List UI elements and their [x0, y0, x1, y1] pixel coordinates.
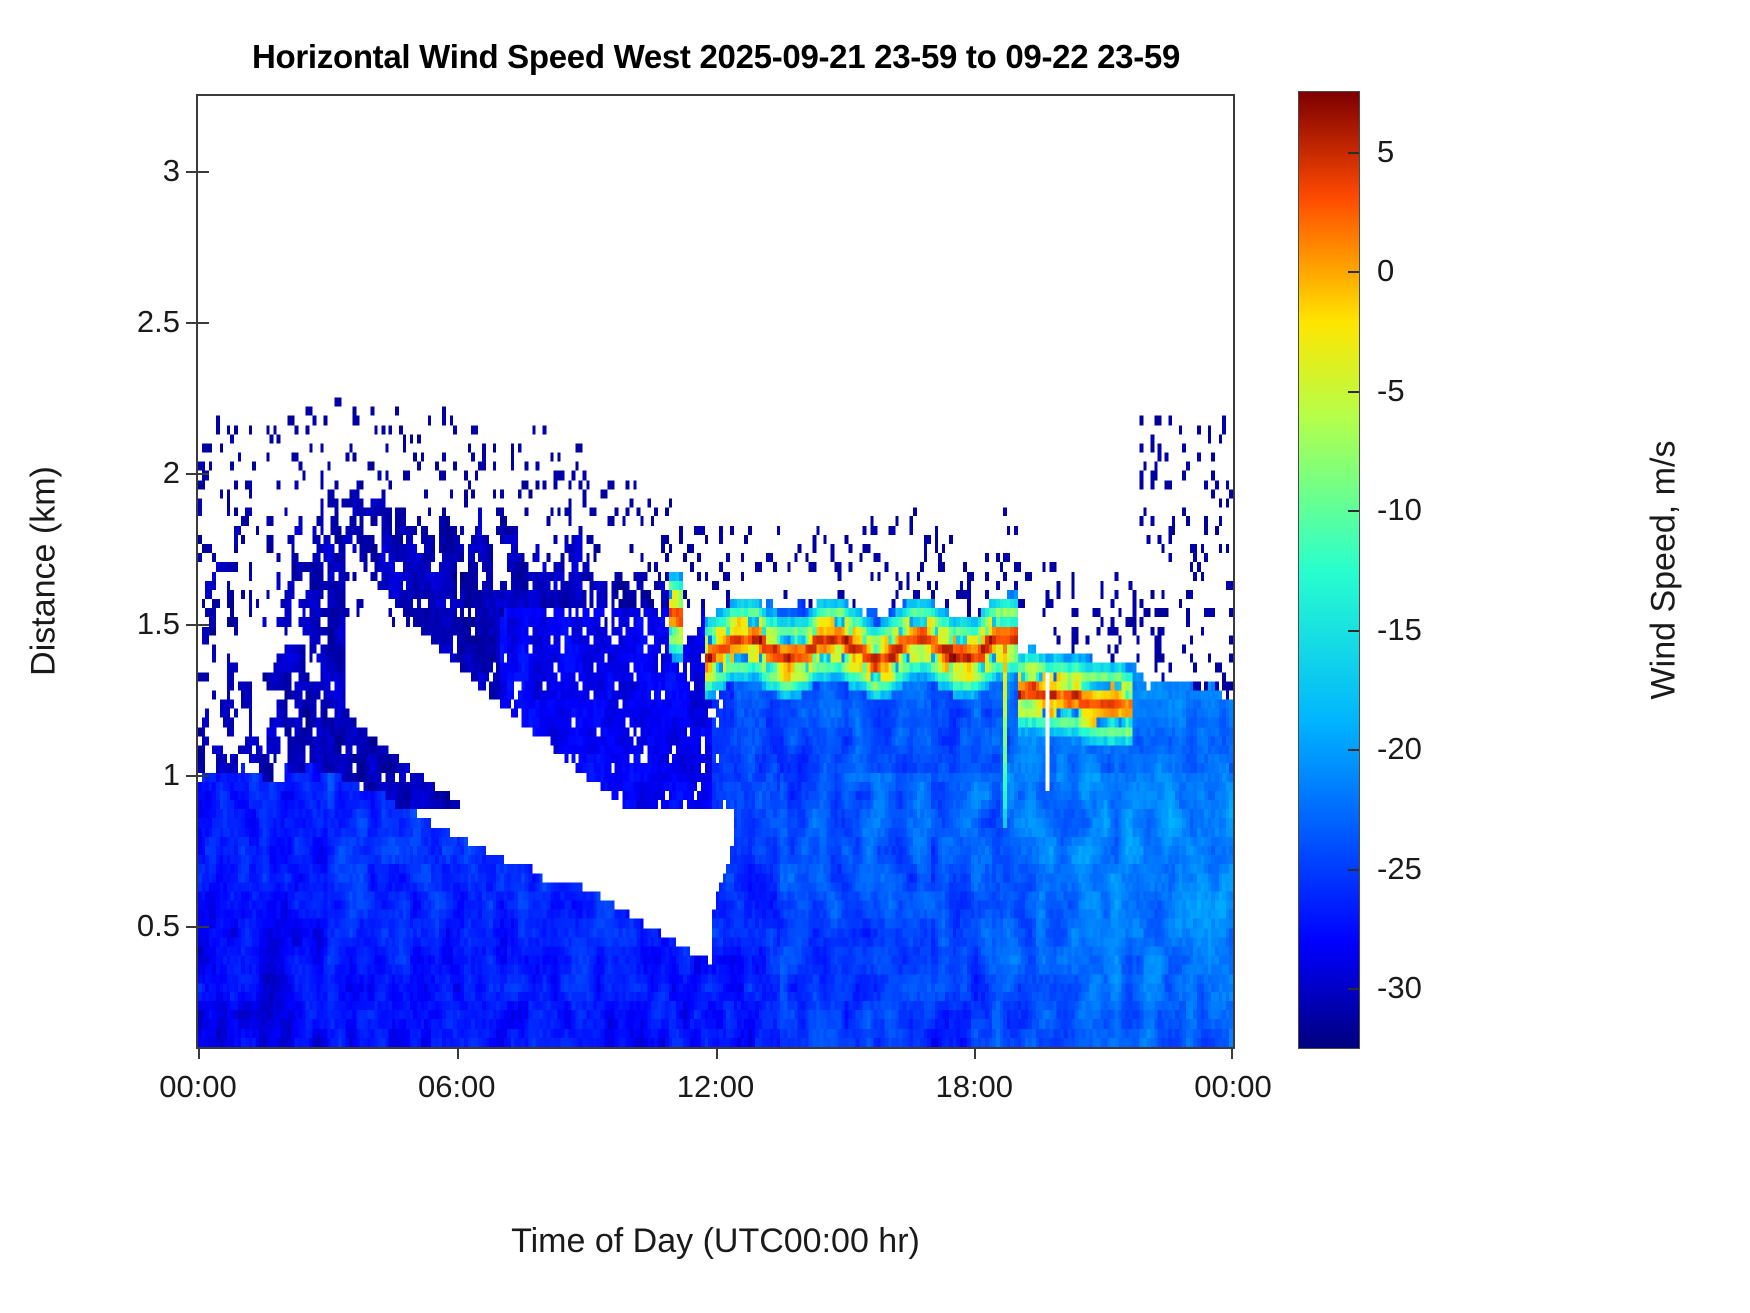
- y-tick-label: 1.5: [137, 606, 180, 642]
- y-tick-label: 1: [163, 757, 180, 793]
- colorbar-tick-label: -30: [1377, 970, 1422, 1006]
- colorbar-tick-label: -10: [1377, 492, 1422, 528]
- colorbar-tick-mark: [1348, 988, 1359, 990]
- y-tick-mark-inner: [198, 473, 209, 475]
- y-tick-mark-inner: [198, 926, 209, 928]
- colorbar-tick-label: 0: [1377, 253, 1394, 289]
- colorbar-tick-mark: [1348, 749, 1359, 751]
- colorbar[interactable]: 50-5-10-15-20-25-30: [1298, 91, 1360, 1049]
- y-tick-mark-inner: [198, 624, 209, 626]
- colorbar-tick-mark: [1348, 630, 1359, 632]
- x-tick-mark: [1231, 1047, 1233, 1059]
- x-tick-mark: [457, 1047, 459, 1059]
- page-title: Horizontal Wind Speed West 2025-09-21 23…: [196, 38, 1236, 76]
- x-tick-label: 00:00: [1194, 1069, 1272, 1105]
- colorbar-tick-mark: [1348, 869, 1359, 871]
- colorbar-tick-label: -20: [1377, 731, 1422, 767]
- colorbar-tick-label: -15: [1377, 612, 1422, 648]
- x-tick-label: 00:00: [159, 1069, 237, 1105]
- colorbar-tick-label: -5: [1377, 373, 1405, 409]
- y-tick-label: 0.5: [137, 908, 180, 944]
- figure-canvas: Horizontal Wind Speed West 2025-09-21 23…: [0, 0, 1750, 1313]
- y-tick-mark-inner: [198, 171, 209, 173]
- x-tick-mark: [974, 1047, 976, 1059]
- y-tick-mark: [186, 926, 198, 928]
- colorbar-tick-mark: [1348, 271, 1359, 273]
- colorbar-tick-label: -25: [1377, 851, 1422, 887]
- x-tick-mark: [198, 1047, 200, 1059]
- y-tick-mark-inner: [198, 775, 209, 777]
- colorbar-axis-label: Wind Speed, m/s: [1645, 441, 1684, 700]
- y-tick-mark: [186, 322, 198, 324]
- y-tick-label: 2: [163, 455, 180, 491]
- y-tick-mark: [186, 473, 198, 475]
- x-tick-label: 12:00: [677, 1069, 755, 1105]
- colorbar-gradient: [1299, 92, 1359, 1048]
- x-axis-label: Time of Day (UTC00:00 hr): [196, 1222, 1235, 1261]
- colorbar-tick-mark: [1348, 152, 1359, 154]
- x-tick-mark: [716, 1047, 718, 1059]
- colorbar-tick-mark: [1348, 391, 1359, 393]
- colorbar-tick-mark: [1348, 510, 1359, 512]
- x-tick-label: 18:00: [935, 1069, 1013, 1105]
- x-tick-label: 06:00: [418, 1069, 496, 1105]
- y-tick-mark: [186, 171, 198, 173]
- y-tick-mark: [186, 624, 198, 626]
- y-axis-label: Distance (km): [25, 466, 64, 676]
- y-tick-label: 3: [163, 153, 180, 189]
- y-tick-mark-inner: [198, 322, 209, 324]
- heatmap-image: [198, 96, 1233, 1047]
- plot-axes: 0.511.522.53 00:0006:0012:0018:0000:00: [196, 94, 1235, 1049]
- y-tick-mark: [186, 775, 198, 777]
- y-tick-label: 2.5: [137, 304, 180, 340]
- colorbar-tick-label: 5: [1377, 134, 1394, 170]
